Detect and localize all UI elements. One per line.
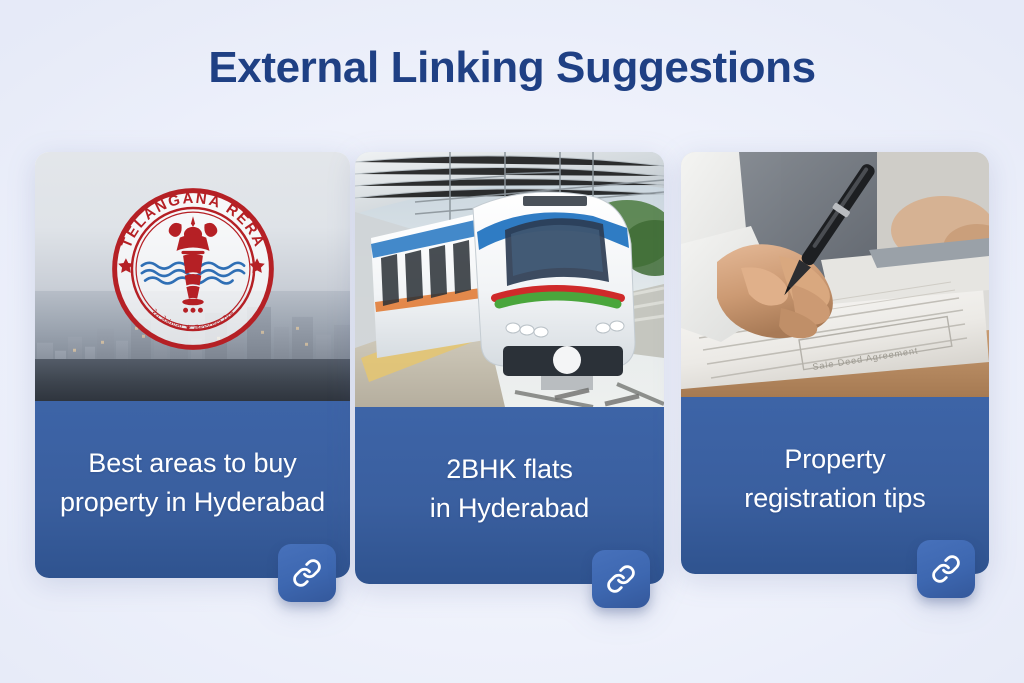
suggestion-card[interactable]: Sale Deed Agreement (681, 152, 989, 574)
link-button[interactable] (917, 540, 975, 598)
link-icon (292, 558, 322, 588)
suggestion-card-inner: Sale Deed Agreement (681, 152, 989, 574)
link-button[interactable] (592, 550, 650, 608)
suggestion-card[interactable]: 2BHK flats in Hyderabad (355, 152, 664, 584)
card-caption: Best areas to buy property in Hyderabad (60, 444, 325, 521)
document-signing-photo: Sale Deed Agreement (681, 152, 989, 397)
card-caption: Property registration tips (744, 440, 925, 517)
suggestion-card-inner: TELANGANA RERA रेरा तेलंगाना ★ తెలంగాణ ర… (35, 152, 350, 578)
card-caption: 2BHK flats in Hyderabad (430, 450, 589, 527)
telangana-rera-logo-icon: TELANGANA RERA रेरा तेलंगाना ★ తెలంగాణ ర… (110, 187, 275, 352)
suggestion-card-inner: 2BHK flats in Hyderabad (355, 152, 664, 584)
hyderabad-metro-photo (355, 152, 664, 407)
card-image: Sale Deed Agreement (681, 152, 989, 397)
page-title: External Linking Suggestions (0, 44, 1024, 92)
suggestion-card[interactable]: TELANGANA RERA रेरा तेलंगाना ★ తెలంగాణ ర… (35, 152, 350, 578)
road-graphic (35, 359, 350, 401)
link-icon (931, 554, 961, 584)
card-image (355, 152, 664, 407)
signing-hand-graphic: Sale Deed Agreement (681, 152, 989, 397)
telangana-rera-photo: TELANGANA RERA रेरा तेलंगाना ★ తెలంగాణ ర… (35, 152, 350, 401)
metro-train-graphic (355, 152, 664, 407)
link-icon (606, 564, 636, 594)
card-image: TELANGANA RERA रेरा तेलंगाना ★ తెలంగాణ ర… (35, 152, 350, 401)
suggestion-card-deck: TELANGANA RERA रेरा तेलंगाना ★ తెలంగాణ ర… (35, 152, 989, 612)
link-button[interactable] (278, 544, 336, 602)
